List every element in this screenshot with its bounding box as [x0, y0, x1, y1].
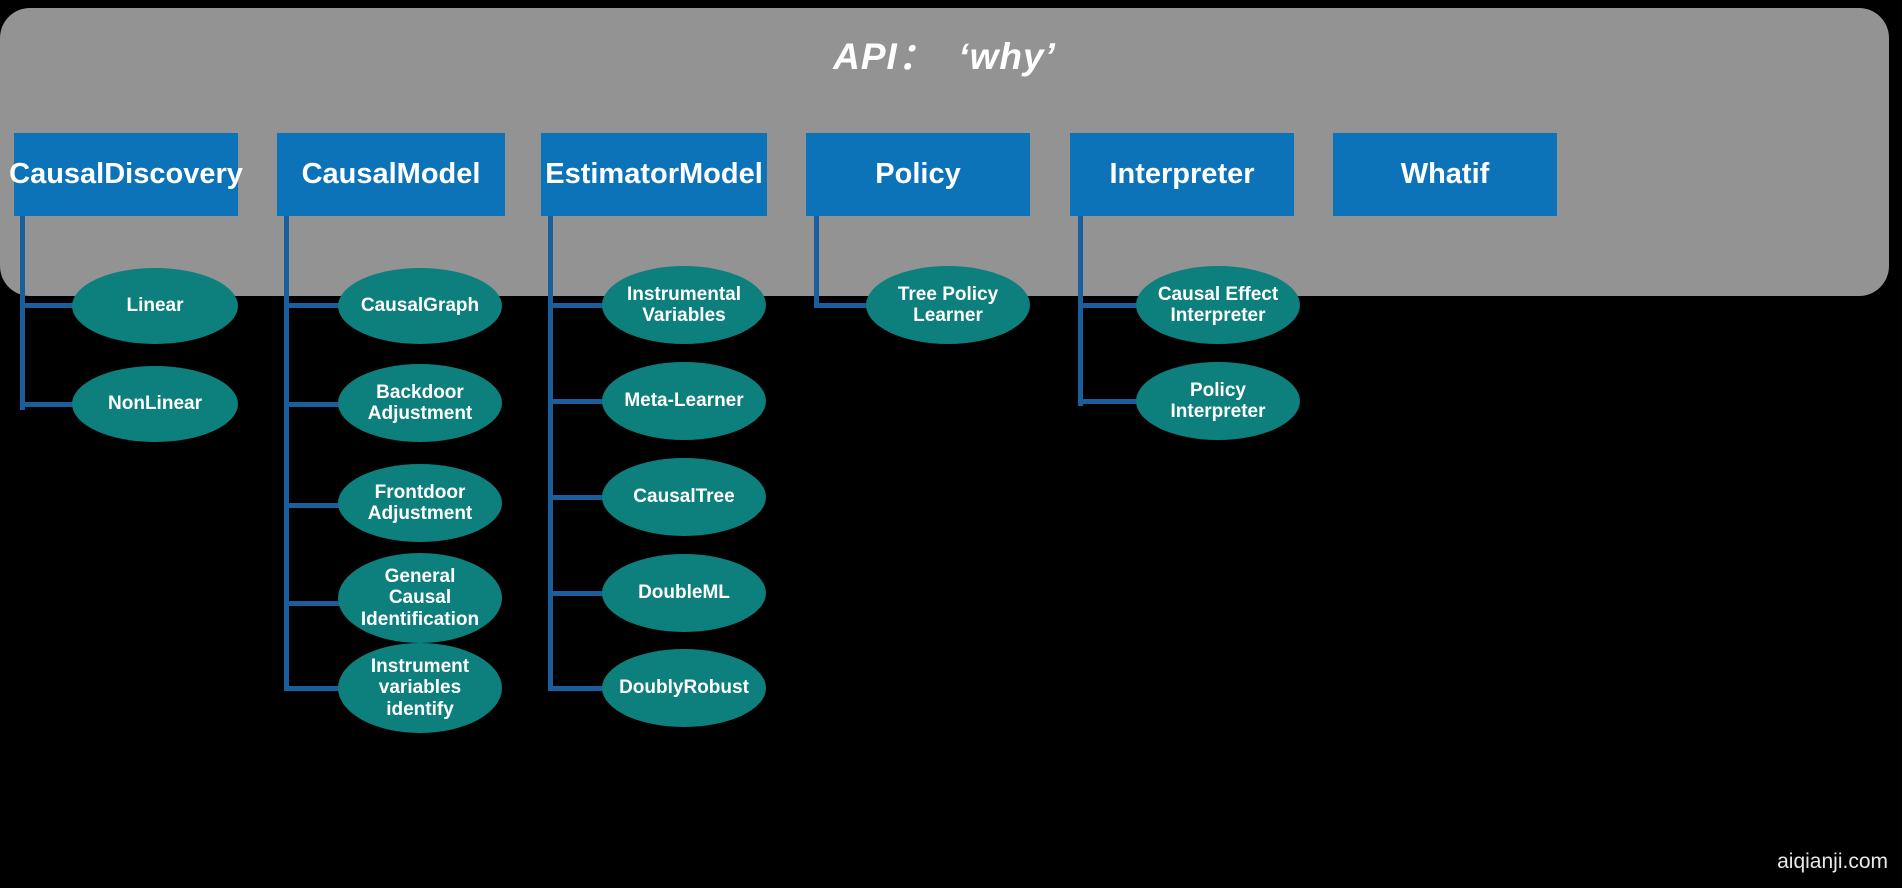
column-header-whatif[interactable]: Whatif — [1333, 133, 1557, 216]
connector-trunk-estimatormodel — [548, 216, 553, 689]
node-causalgraph[interactable]: CausalGraph — [338, 268, 502, 344]
node-linear[interactable]: Linear — [72, 268, 238, 344]
node-instrumental-variables[interactable]: Instrumental Variables — [602, 266, 766, 344]
node-policy-interpreter[interactable]: Policy Interpreter — [1136, 362, 1300, 440]
diagram-title: API： ‘why’ — [0, 26, 1889, 80]
connector-stub-policy-interpreter — [1078, 399, 1140, 404]
connector-trunk-policy — [814, 216, 819, 308]
node-instrument-variables-identify[interactable]: Instrument variables identify — [338, 643, 502, 733]
connector-trunk-causalmodel — [284, 216, 289, 689]
connector-stub-causal-effect-interpreter — [1078, 303, 1140, 308]
connector-trunk-interpreter — [1078, 216, 1083, 406]
connector-stub-instrument-variables — [284, 686, 346, 691]
node-meta-learner[interactable]: Meta-Learner — [602, 362, 766, 440]
column-header-causalmodel[interactable]: CausalModel — [277, 133, 505, 216]
column-header-interpreter[interactable]: Interpreter — [1070, 133, 1294, 216]
diagram-canvas: API： ‘why’ CausalDiscovery Linear NonLin… — [0, 0, 1902, 888]
node-causal-effect-interpreter[interactable]: Causal Effect Interpreter — [1136, 266, 1300, 344]
node-causaltree[interactable]: CausalTree — [602, 458, 766, 536]
node-doublyrobust[interactable]: DoublyRobust — [602, 649, 766, 727]
connector-stub-frontdoor — [284, 503, 346, 508]
connector-stub-doubleml — [548, 591, 610, 596]
connector-stub-causaltree — [548, 495, 610, 500]
connector-stub-instrumental-variables — [548, 303, 610, 308]
node-nonlinear[interactable]: NonLinear — [72, 366, 238, 442]
connector-stub-causalgraph — [284, 303, 346, 308]
column-header-causaldiscovery[interactable]: CausalDiscovery — [14, 133, 238, 216]
column-header-estimatormodel[interactable]: EstimatorModel — [541, 133, 767, 216]
node-general-causal-identification[interactable]: General Causal Identification — [338, 553, 502, 643]
column-header-policy[interactable]: Policy — [806, 133, 1030, 216]
node-tree-policy-learner[interactable]: Tree Policy Learner — [866, 266, 1030, 344]
connector-stub-meta-learner — [548, 399, 610, 404]
node-backdoor-adjustment[interactable]: Backdoor Adjustment — [338, 364, 502, 442]
watermark: aiqianji.com — [1777, 850, 1888, 874]
connector-stub-general-causal — [284, 601, 346, 606]
node-frontdoor-adjustment[interactable]: Frontdoor Adjustment — [338, 464, 502, 542]
node-doubleml[interactable]: DoubleML — [602, 554, 766, 632]
connector-stub-doublyrobust — [548, 686, 610, 691]
connector-trunk-causaldiscovery — [20, 216, 25, 410]
connector-stub-backdoor — [284, 402, 346, 407]
